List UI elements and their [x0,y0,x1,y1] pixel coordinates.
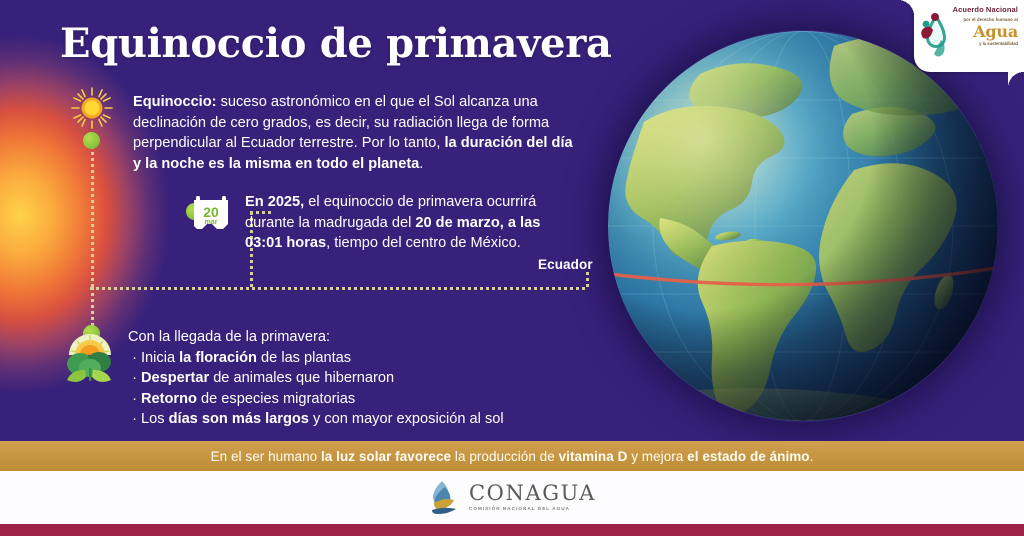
equinoccio-lead: Equinoccio: [133,94,217,110]
badge-line-1: Acuerdo Nacional [948,5,1018,14]
bullet-icon: · [128,389,141,410]
text-block-fecha: En 2025, el equinoccio de primavera ocur… [245,192,545,254]
bullet-post: de animales que hibernaron [209,370,394,386]
connector-line-horizontal [90,287,588,290]
list-item: · Retorno de especies migratorias [128,389,598,410]
conagua-text-group: CONAGUA COMISIÓN NACIONAL DEL AGUA [469,483,596,512]
page-title: Equinoccio de primavera [60,20,612,67]
bullet-bold: Retorno [141,391,197,407]
sprout-sunrise-icon [63,328,121,382]
bottom-red-bar [0,524,1024,536]
banner-bold-2: vitamina D [559,449,628,464]
bullet-post: de especies migratorias [197,391,355,407]
main-stage: 20 mar E [0,0,1024,441]
bullet-pre: Inicia [141,350,179,366]
banner-pre: En el ser humano [211,449,321,464]
bullet-pre: Los [141,411,169,427]
node-dot-sun [83,132,100,149]
acuerdo-nacional-badge: Acuerdo Nacional por el derecho humano a… [914,0,1024,72]
bullet-icon: · [128,409,141,430]
bullet-text: Los días son más largos y con mayor expo… [141,409,504,430]
globe-sphere [608,30,998,422]
sun-icon [71,87,113,129]
calendar-icon: 20 mar [192,194,232,234]
calendar-day-text: 20 [203,204,219,220]
bullet-icon: · [128,368,141,389]
footer: CONAGUA COMISIÓN NACIONAL DEL AGUA [0,471,1024,524]
equinoccio-tail: . [419,156,423,172]
bullet-post: y con mayor exposición al sol [309,411,504,427]
fecha-lead: En 2025, [245,194,304,210]
conagua-water-icon [428,479,462,515]
calendar-month-text: mar [205,219,218,226]
banner-bold-3: el estado de ánimo [687,449,809,464]
banner-text: En el ser humano la luz solar favorece l… [211,449,814,464]
bullet-post: de las plantas [257,350,351,366]
connector-line-ecuador [586,272,589,289]
connector-line-sun-to-plant [91,140,94,288]
bullet-text: Despertar de animales que hibernaron [141,368,394,389]
equator-label: Ecuador [538,257,593,272]
bullet-icon: · [128,348,141,369]
infographic-root: 20 mar E [0,0,1024,536]
text-block-primavera: Con la llegada de la primavera: · Inicia… [128,327,598,430]
conagua-logo: CONAGUA COMISIÓN NACIONAL DEL AGUA [428,479,596,515]
globe-svg [608,30,998,422]
badge-line-4: y la sustentabilidad [948,40,1018,47]
bullet-text: Inicia la floración de las plantas [141,348,351,369]
conagua-subtitle: COMISIÓN NACIONAL DEL AGUA [469,507,596,512]
text-block-equinoccio: Equinoccio: suceso astronómico en el que… [133,92,581,174]
bottom-banner: En el ser humano la luz solar favorece l… [0,441,1024,471]
bullet-bold: días son más largos [169,411,309,427]
list-item: · Inicia la floración de las plantas [128,348,598,369]
conagua-name: CONAGUA [469,483,596,504]
banner-mid-2: y mejora [627,449,687,464]
badge-corner-left [898,0,914,16]
badge-corner-bottom [1008,72,1024,88]
fecha-tail: , tiempo del centro de México. [326,235,521,251]
list-item: · Los días son más largos y con mayor ex… [128,409,598,430]
globe-illustration [608,30,998,422]
banner-bold-1: la luz solar favorece [321,449,451,464]
bullet-text: Retorno de especies migratorias [141,389,355,410]
badge-text-group: Acuerdo Nacional por el derecho humano a… [914,0,1024,72]
banner-mid-1: la producción de [451,449,558,464]
badge-line-3: Agua [948,23,1018,40]
bullet-bold: la floración [179,350,257,366]
list-item: · Despertar de animales que hibernaron [128,368,598,389]
banner-post: . [810,449,814,464]
primavera-intro: Con la llegada de la primavera: [128,327,598,348]
bullet-bold: Despertar [141,370,209,386]
